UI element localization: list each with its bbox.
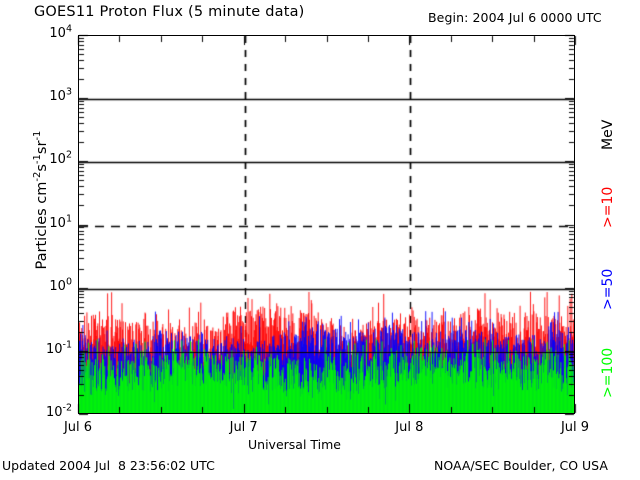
updated-timestamp: Updated 2004 Jul 8 23:56:02 UTC (2, 458, 215, 473)
page-title: GOES11 Proton Flux (5 minute data) (34, 4, 305, 20)
legend-item-ge100: >=100 (600, 348, 616, 398)
source-credit: NOAA/SEC Boulder, CO USA (434, 458, 608, 473)
y-tick-label: 104 (26, 26, 72, 41)
x-tick-label: Jul 8 (374, 420, 444, 435)
legend-unit: MeV (600, 120, 616, 150)
y-tick-label: 101 (26, 216, 72, 231)
legend-item-ge50: >=50 (600, 269, 616, 310)
y-tick-label: 103 (26, 89, 72, 104)
chart-plot-area (78, 35, 575, 414)
x-tick-label: Jul 9 (540, 420, 610, 435)
x-tick-label: Jul 7 (209, 420, 279, 435)
y-tick-label: 10-1 (26, 342, 72, 357)
begin-time-label: Begin: 2004 Jul 6 0000 UTC (428, 10, 602, 25)
plot-image: GOES11 Proton Flux (5 minute data) Begin… (0, 0, 640, 480)
y-tick-label: 10-2 (26, 405, 72, 420)
x-tick-label: Jul 6 (43, 420, 113, 435)
legend-item-ge10: >=10 (600, 187, 616, 228)
y-tick-label: 100 (26, 279, 72, 294)
y-tick-label: 102 (26, 152, 72, 167)
x-axis-title: Universal Time (248, 437, 341, 452)
chart-canvas (79, 36, 574, 413)
